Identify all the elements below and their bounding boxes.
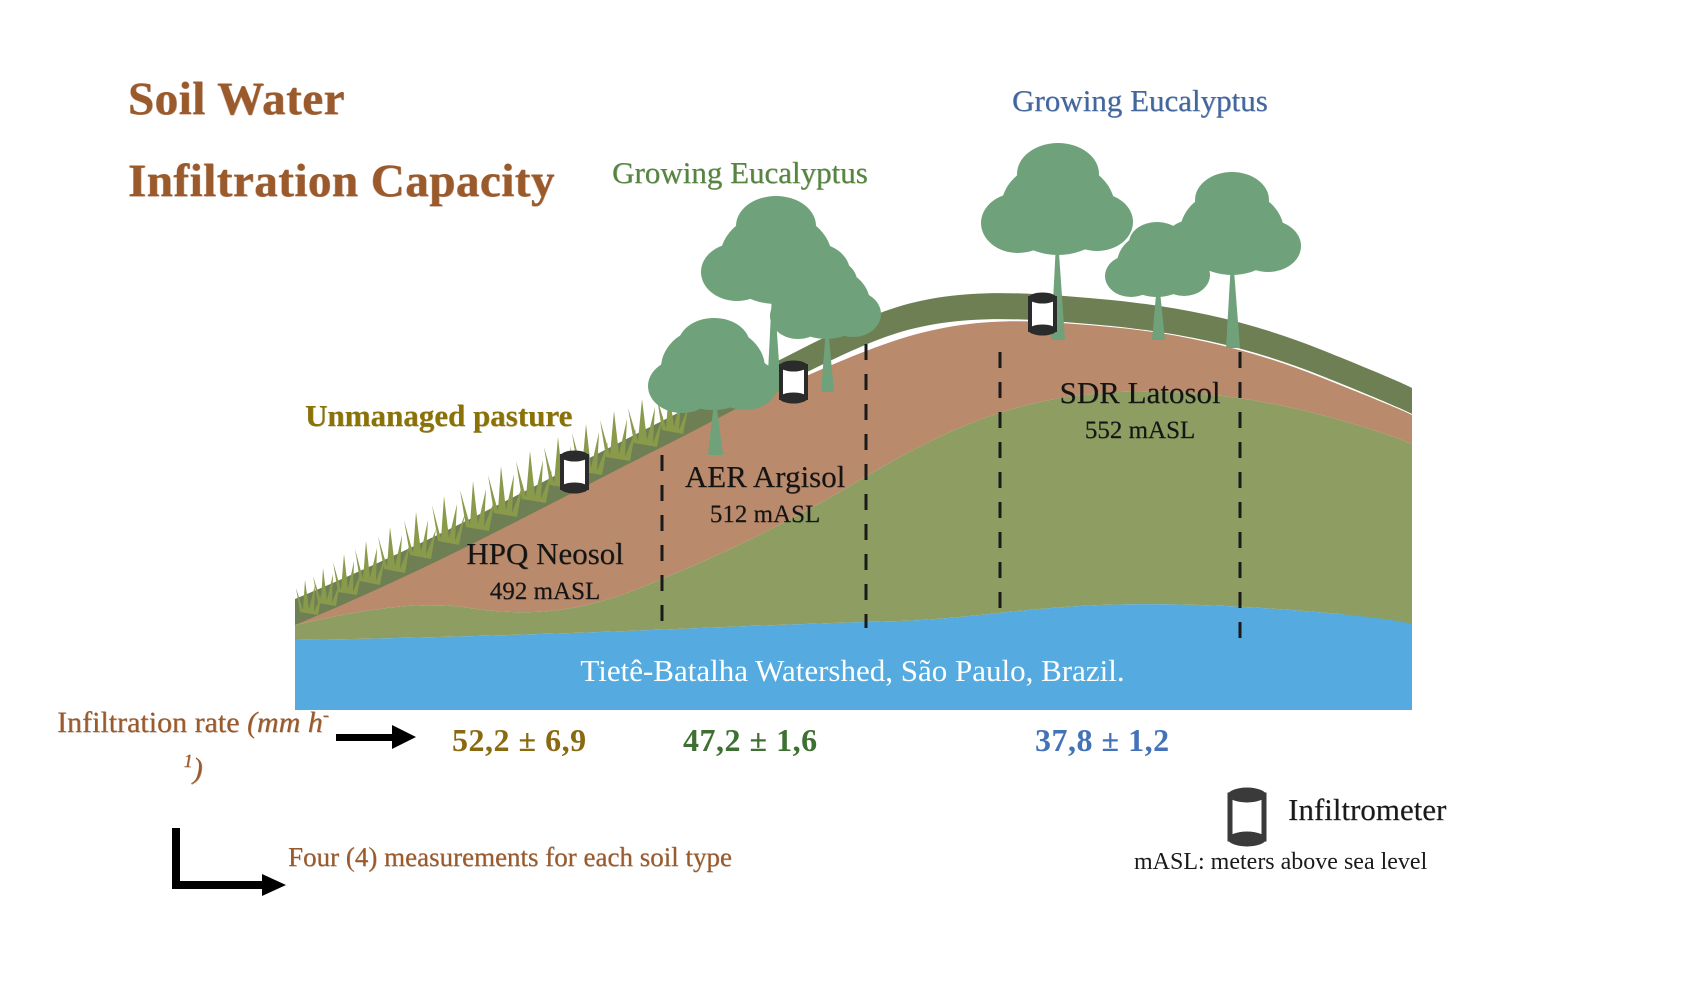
unit-close: ) [193, 752, 203, 785]
soil-elevation-hpq: 492 mASL [400, 573, 690, 611]
landuse-label-pasture: Unmanaged pasture [305, 398, 572, 434]
legend-masl-note: mASL: meters above sea level [1134, 849, 1427, 876]
soil-elevation-aer: 512 mASL [620, 496, 910, 534]
page-title: Soil Water Infiltration Capacity [128, 58, 768, 223]
soil-name-aer: AER Argisol [620, 458, 910, 496]
soil-elevation-sdr: 552 mASL [990, 412, 1290, 450]
infiltration-value-hpq: 52,2 ± 6,9 [452, 722, 587, 759]
landuse-label-eucalyptus-right: Growing Eucalyptus [1012, 83, 1268, 119]
infiltration-rate-heading: Infiltration rate (mm h-1) [48, 700, 338, 791]
infiltration-rate-heading-text: Infiltration rate [57, 706, 239, 739]
infographic-canvas: Soil Water Infiltration Capacity Unmanag… [0, 0, 1684, 987]
page-title-line-1: Soil Water [128, 58, 768, 140]
infiltrometer-marker-aer [780, 361, 808, 404]
soil-name-hpq: HPQ Neosol [400, 535, 690, 573]
soil-label-sdr: SDR Latosol 552 mASL [990, 374, 1290, 449]
soil-label-aer: AER Argisol 512 mASL [620, 458, 910, 533]
infiltration-pointer-arrow [336, 725, 416, 749]
soil-label-hpq: HPQ Neosol 492 mASL [400, 535, 690, 610]
infiltrometer-marker-hpq [561, 451, 589, 494]
landuse-label-eucalyptus-middle: Growing Eucalyptus [612, 155, 868, 191]
soil-name-sdr: SDR Latosol [990, 374, 1290, 412]
footnote-elbow-arrow [172, 828, 286, 896]
legend-infiltrometer-label: Infiltrometer [1288, 792, 1446, 828]
infiltrometer-marker-sdr [1029, 293, 1057, 336]
measurements-footnote: Four (4) measurements for each soil type [288, 842, 732, 873]
infiltration-value-sdr: 37,8 ± 1,2 [1035, 722, 1170, 759]
unit-main: (mm h [247, 706, 323, 739]
watershed-caption: Tietê-Batalha Watershed, São Paulo, Braz… [295, 653, 1410, 689]
legend-infiltrometer-icon [1228, 788, 1266, 847]
infiltration-value-aer: 47,2 ± 1,6 [683, 722, 818, 759]
